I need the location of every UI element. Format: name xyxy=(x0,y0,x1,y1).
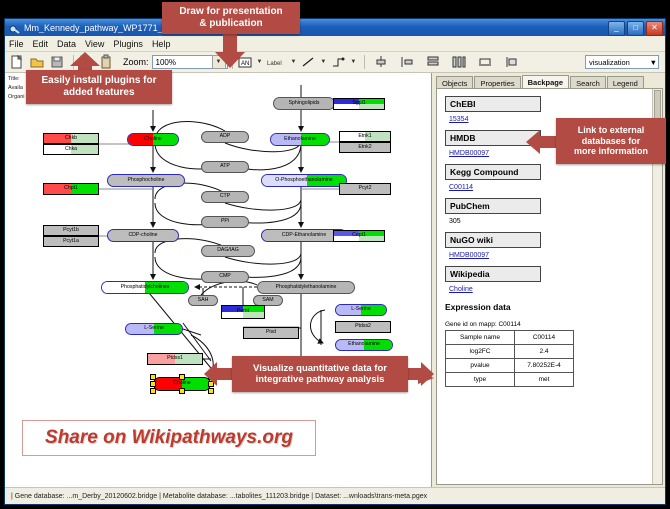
cell-value: 7.80252E-4 xyxy=(515,359,574,373)
menu-item-file[interactable]: File xyxy=(9,39,24,49)
toolbar-separator-3 xyxy=(364,55,365,69)
gene-node-etnk2[interactable]: Etnk2 xyxy=(339,142,391,153)
status-bar: | Gene database: ...m_Derby_20120602.bri… xyxy=(5,487,665,504)
database-entry-nugo: NuGO wiki HMDB00097 xyxy=(445,225,662,259)
database-label-wikipedia: Wikipedia xyxy=(445,266,541,282)
maximize-button[interactable]: □ xyxy=(627,21,644,36)
zoom-value: 100% xyxy=(156,58,176,67)
visualization-value: visualization xyxy=(589,58,630,67)
label-icon[interactable]: Label xyxy=(266,54,286,70)
gene-id-on-mapp: Gene id on mapp: C00114 xyxy=(445,321,662,328)
visualization-chevron-down-icon[interactable]: ▼ xyxy=(650,58,657,67)
callout-visualize-line1: Visualize quantitative data for xyxy=(253,363,387,374)
menu-bar: File Edit Data View Plugins Help xyxy=(5,36,665,52)
status-bar-text: | Gene database: ...m_Derby_20120602.bri… xyxy=(11,493,427,500)
gene-node-chka[interactable]: Chka xyxy=(43,144,99,155)
metabolite-node-cdp-choline[interactable]: CDP-choline xyxy=(107,229,179,242)
gene-node-etnk1[interactable]: Etnk1 xyxy=(339,131,391,142)
metabolite-node-dag[interactable]: DAG/IAG xyxy=(201,245,255,257)
stack-icon[interactable] xyxy=(425,54,441,70)
metabolite-node-sphingolipids[interactable]: Sphingolipids xyxy=(273,97,335,110)
gene-node-ptdss1[interactable]: Ptdss1 xyxy=(147,353,203,365)
minimize-button[interactable]: _ xyxy=(608,21,625,36)
gene-node-cept1[interactable]: Cept1 xyxy=(333,230,385,242)
callout-visualize-arrow-tip xyxy=(418,370,438,391)
metabolite-node-adp[interactable]: ADP xyxy=(201,131,249,143)
open-folder-icon[interactable] xyxy=(29,54,45,70)
selection-handle[interactable] xyxy=(179,388,185,394)
metabolite-node-l-serine-right[interactable]: L-Serine xyxy=(335,304,387,316)
database-label-chebi: ChEBI xyxy=(445,96,541,112)
metabolite-node-choline[interactable]: Choline xyxy=(127,133,179,146)
line-icon[interactable] xyxy=(300,54,316,70)
gene-node-chkb[interactable]: Chkb xyxy=(43,133,99,144)
database-entry-wikipedia: Wikipedia Choline xyxy=(445,259,662,293)
callout-draw-for-presentation: Draw for presentation & publication xyxy=(162,2,300,34)
table-row: Sample name C00114 xyxy=(446,331,574,345)
callout-plugins-line1: Easily install plugins for xyxy=(41,75,156,87)
callout-link-external-databases: Link to external databases for more info… xyxy=(556,118,666,164)
metabolite-node-phosphatidylethanolamine[interactable]: Phosphatidylethanolamine xyxy=(257,281,355,294)
gene-node-pisd[interactable]: Pisd xyxy=(243,327,299,339)
expression-data-heading: Expression data xyxy=(445,302,662,312)
align-left-icon[interactable] xyxy=(399,54,415,70)
callout-visualize-line2: integrative pathway analysis xyxy=(256,374,385,385)
connector-dropdown-icon[interactable]: ▼ xyxy=(350,59,356,65)
database-entry-pubchem: PubChem 305 xyxy=(445,191,662,225)
zoom-label: Zoom: xyxy=(123,57,149,67)
menu-item-help[interactable]: Help xyxy=(152,39,171,49)
connector-icon[interactable] xyxy=(330,54,346,70)
database-link-wikipedia[interactable]: Choline xyxy=(449,286,662,293)
menu-item-data[interactable]: Data xyxy=(57,39,76,49)
table-row: type met xyxy=(446,373,574,387)
table-row: log2FC 2.4 xyxy=(446,345,574,359)
callout-link-line2: databases for xyxy=(582,136,641,147)
label-dropdown-icon[interactable]: ▼ xyxy=(290,59,296,65)
metabolite-node-phosphocholine[interactable]: Phosphocholine xyxy=(107,174,185,187)
database-label-pubchem: PubChem xyxy=(445,198,541,214)
cell-key: pvalue xyxy=(446,359,515,373)
app-icon xyxy=(9,22,20,33)
window-title-bar: Mm_Kennedy_pathway_WP1771_45176.gpml _ □… xyxy=(5,19,665,36)
expression-data-table: Sample name C00114 log2FC 2.4 pvalue 7.8… xyxy=(445,330,574,387)
close-button[interactable]: ✕ xyxy=(646,21,663,36)
gene-node-ptdss2[interactable]: Ptdss2 xyxy=(335,321,391,333)
order-icon[interactable] xyxy=(503,54,519,70)
metabolite-node-o-phosphoethanolamine[interactable]: O-Phosphoethanolamine xyxy=(261,174,347,187)
group-icon[interactable] xyxy=(477,54,493,70)
callout-draw-arrow xyxy=(215,34,245,75)
metabolite-node-ppi[interactable]: PPi xyxy=(201,216,249,228)
canvas-info-title: Title: xyxy=(8,76,20,82)
callout-draw-line2: & publication xyxy=(199,18,262,30)
metabolite-node-sah[interactable]: SAH xyxy=(188,295,218,306)
cell-value: C00114 xyxy=(515,331,574,345)
callout-link-line1: Link to external xyxy=(578,125,645,136)
cell-key: Sample name xyxy=(446,331,515,345)
line-dropdown-icon[interactable]: ▼ xyxy=(320,59,326,65)
canvas-info-available: Availa xyxy=(8,85,23,91)
paste-icon[interactable] xyxy=(98,54,114,70)
selection-handle[interactable] xyxy=(150,381,156,387)
menu-item-edit[interactable]: Edit xyxy=(33,39,49,49)
window-controls: _ □ ✕ xyxy=(608,21,663,36)
metabolite-node-cmp[interactable]: CMP xyxy=(201,271,249,283)
table-row: pvalue 7.80252E-4 xyxy=(446,359,574,373)
callout-plugins-line2: added features xyxy=(63,87,134,99)
gene-node-pcyt2[interactable]: Pcyt2 xyxy=(339,183,391,195)
callout-link-line3: more information xyxy=(574,146,648,157)
side-panel-tabs: Objects Properties Backpage Search Legen… xyxy=(436,75,663,89)
share-text: Share on Wikipathways.org xyxy=(45,427,293,449)
tab-backpage[interactable]: Backpage xyxy=(522,75,569,89)
selection-handle[interactable] xyxy=(150,374,156,380)
database-link-kegg[interactable]: C00114 xyxy=(449,184,662,191)
align-center-icon[interactable] xyxy=(373,54,389,70)
menu-item-view[interactable]: View xyxy=(85,39,104,49)
metabolite-node-phosphatidylcholines[interactable]: Phosphatidylcholines xyxy=(101,281,189,294)
selection-handle[interactable] xyxy=(179,374,185,380)
save-icon[interactable] xyxy=(49,54,65,70)
metabolite-node-ethanolamine-right[interactable]: Ethanolamine xyxy=(335,339,393,351)
database-label-kegg: Kegg Compound xyxy=(445,164,541,180)
database-link-nugo[interactable]: HMDB00097 xyxy=(449,252,662,259)
selection-handle[interactable] xyxy=(150,388,156,394)
callout-easily-install-plugins: Easily install plugins for added feature… xyxy=(26,70,172,104)
gene-node-sgpl1[interactable]: Sgpl1 xyxy=(333,98,385,110)
cell-key: type xyxy=(446,373,515,387)
callout-visualize-quantitative-data: Visualize quantitative data for integrat… xyxy=(232,356,408,392)
cell-value: 2.4 xyxy=(515,345,574,359)
svg-text:Label: Label xyxy=(267,61,282,67)
share-on-wikipathways-banner: Share on Wikipathways.org xyxy=(22,420,316,456)
metabolite-node-l-serine-left[interactable]: L-Serine xyxy=(125,323,183,335)
database-label-nugo: NuGO wiki xyxy=(445,232,541,248)
callout-visualize-arrow-left xyxy=(204,362,234,391)
callout-draw-line1: Draw for presentation xyxy=(179,6,282,18)
distribute-icon[interactable] xyxy=(451,54,467,70)
canvas-info-organism: Organi xyxy=(8,94,25,100)
metabolite-node-ethanolamine[interactable]: Ethanolamine xyxy=(270,133,330,146)
gene-node-pcyt1b[interactable]: Pcyt1b xyxy=(43,225,99,236)
cell-value: met xyxy=(515,373,574,387)
gene-node-chpt1[interactable]: Chpt1 xyxy=(43,183,99,195)
menu-item-plugins[interactable]: Plugins xyxy=(113,39,143,49)
callout-link-arrow xyxy=(526,130,558,159)
new-file-icon[interactable] xyxy=(9,54,25,70)
metabolite-node-atp[interactable]: ATP xyxy=(201,161,249,173)
database-value-pubchem: 305 xyxy=(449,218,662,225)
metabolite-node-ctp[interactable]: CTP xyxy=(201,191,249,203)
screenshot-root: Mm_Kennedy_pathway_WP1771_45176.gpml _ □… xyxy=(0,0,670,509)
visualization-combobox[interactable]: visualization ▼ xyxy=(585,55,659,69)
datanode-dropdown-icon[interactable]: ▼ xyxy=(257,59,263,65)
gene-node-pcyt1a[interactable]: Pcyt1a xyxy=(43,236,99,247)
gene-node-pemt[interactable]: Pemt xyxy=(221,305,265,319)
cell-key: log2FC xyxy=(446,345,515,359)
